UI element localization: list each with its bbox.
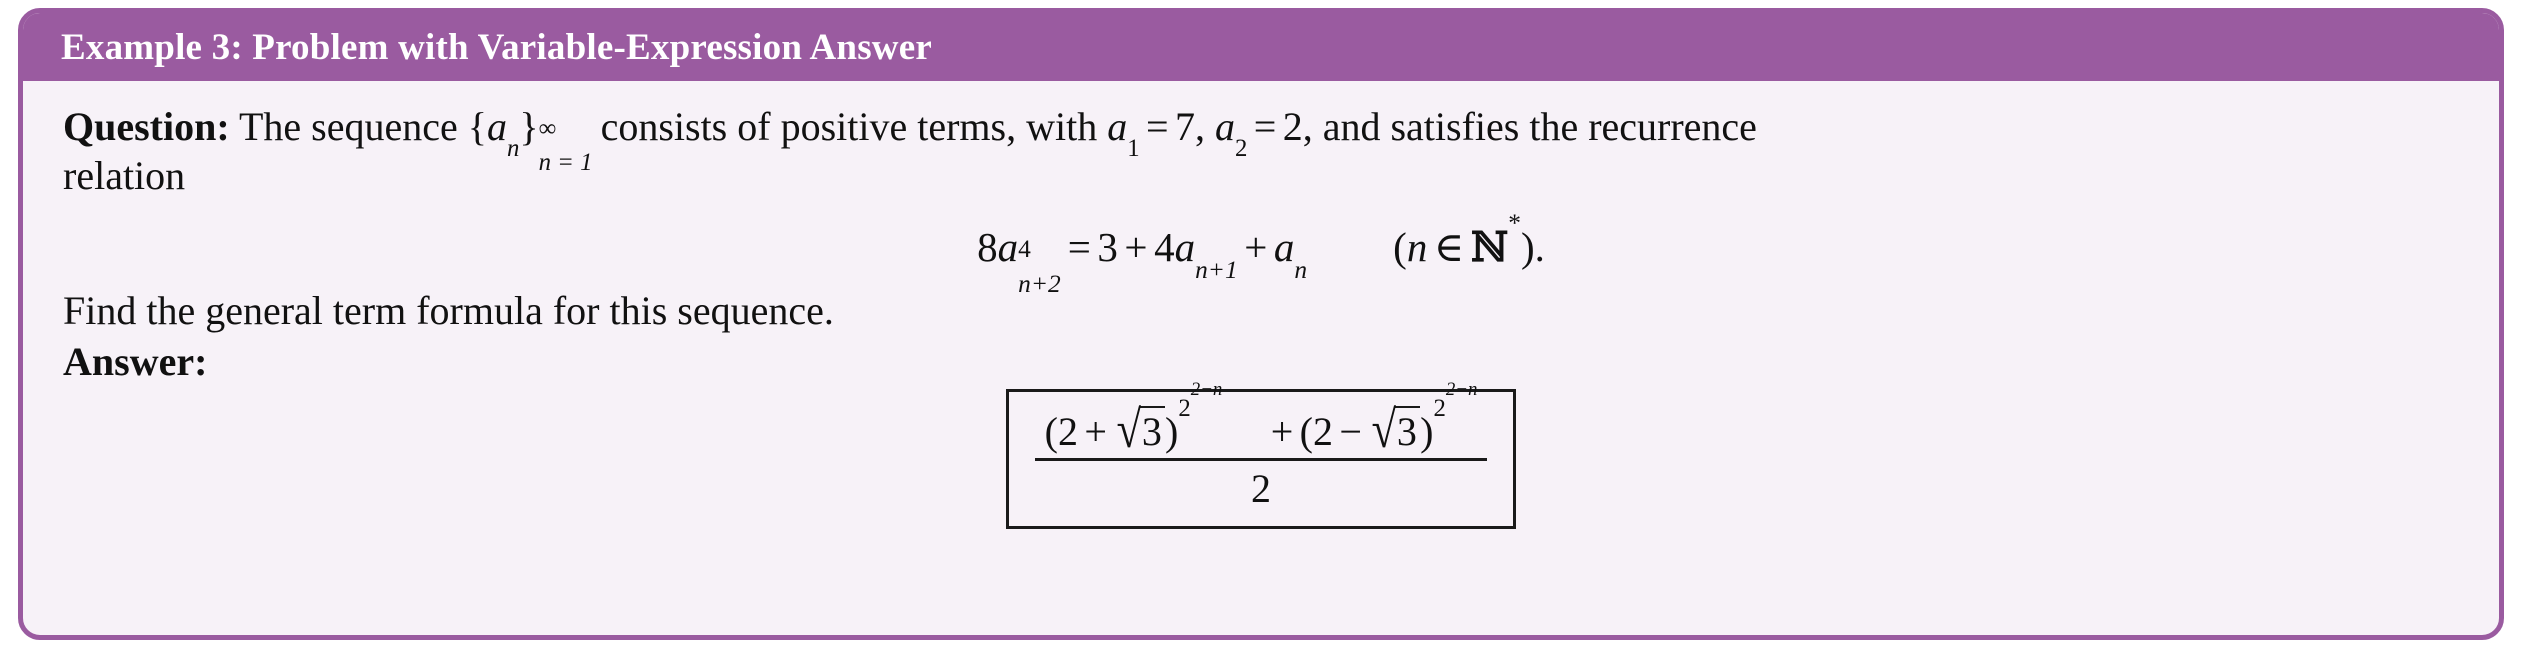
lhs-subscript: n+2 [1018,270,1061,299]
question-label: Question: [63,104,230,149]
rhs-subscript: n+1 [1195,256,1238,284]
term1-exponent: 22−n [1178,395,1222,422]
answer-box: (2+√3)22−n+(2−√3)22−n 2 [1006,389,1517,529]
condition-element-of: ∈ [1427,224,1470,270]
lhs-base: a [998,224,1019,270]
recurrence-equation: 8a4n+2=3+4an+1+an(n∈ℕ*). [63,223,2459,271]
term1-operator: + [1078,409,1113,454]
term2-operator: − [1333,409,1368,454]
find-instruction: Find the general term formula for this s… [63,287,2459,334]
term1-paren-open: ( [1045,409,1058,454]
rhs-plus-1: + [1118,224,1154,270]
equation-equals: = [1061,224,1097,270]
term1-sqrt: √3 [1113,404,1165,456]
lhs-superscript: 4 [1018,235,1031,264]
lhs-coefficient: 8 [977,224,998,270]
rhs-last-base: a [1274,224,1295,270]
question-text-part3: , and satisfies the recurrence [1303,104,1757,149]
term1-operand: 2 [1058,409,1078,454]
sequence-upper-limit: ∞ [539,114,557,143]
condition-paren-open: ( [1393,224,1407,270]
term1-paren-close: ) [1165,409,1178,454]
a2-equals: = [1247,104,1282,149]
answer-box-wrapper: (2+√3)22−n+(2−√3)22−n 2 [63,389,2459,529]
example-card: Example 3: Problem with Variable-Express… [18,8,2504,640]
sequence-subscript: n [507,135,519,162]
a1-value: 7 [1175,104,1195,149]
brace-close: } [519,104,538,149]
term2-exponent: 22−n [1433,395,1477,422]
condition-variable: n [1407,224,1428,270]
condition-natural-set: ℕ [1471,223,1508,271]
a2-subscript: 2 [1235,135,1247,162]
answer-fraction: (2+√3)22−n+(2−√3)22−n 2 [1035,404,1488,512]
answer-denominator: 2 [1035,461,1488,512]
rhs-base: a [1175,224,1196,270]
radical-icon: √ [1116,399,1141,460]
condition-star: * [1508,209,1521,237]
answer-label: Answer: [63,338,2459,385]
comma-after-a1: , [1195,104,1205,149]
term2-sqrt: √3 [1368,404,1420,456]
a2-value: 2 [1283,104,1303,149]
term2-radicand: 3 [1394,406,1420,455]
term1-radicand: 3 [1139,406,1165,455]
sequence-base: a [487,104,507,149]
term2-operand: 2 [1313,409,1333,454]
term2-paren-open: ( [1300,409,1313,454]
rhs-coefficient: 4 [1154,224,1175,270]
sequence-lower-limit: n = 1 [539,148,593,177]
condition-paren-close: ) [1521,224,1535,270]
question-line-1: Question: The sequence {an}∞n = 1 consis… [63,103,2459,150]
question-line-2: relation [63,152,2459,199]
a1-equals: = [1140,104,1175,149]
card-body: Question: The sequence {an}∞n = 1 consis… [23,81,2499,529]
numerator-joiner: + [1264,409,1299,454]
rhs-constant: 3 [1097,224,1118,270]
answer-numerator: (2+√3)22−n+(2−√3)22−n [1035,404,1488,461]
rhs-plus-2: + [1238,224,1274,270]
a1-base: a [1107,104,1127,149]
brace-open: { [468,104,487,149]
term1-exponent-exponent: 2−n [1191,379,1223,400]
term2-paren-close: ) [1420,409,1433,454]
question-text-part2: consists of positive terms, with [601,104,1098,149]
rhs-last-subscript: n [1294,256,1307,284]
a2-base: a [1215,104,1235,149]
a2-term: a2=2 [1215,104,1303,149]
term2-exponent-exponent: 2−n [1446,379,1478,400]
screenshot-root: Example 3: Problem with Variable-Express… [0,0,2522,656]
a1-subscript: 1 [1127,135,1139,162]
a1-term: a1=7 [1107,104,1195,149]
card-header-title: Example 3: Problem with Variable-Express… [61,26,932,69]
sequence-notation: {an}∞n = 1 [468,104,549,149]
equation-period: . [1535,224,1545,270]
radical-icon: √ [1372,399,1397,460]
card-header: Example 3: Problem with Variable-Express… [23,13,2499,81]
term2-exponent-base: 2 [1433,395,1445,422]
question-text-part1: The sequence [239,104,458,149]
term1-exponent-base: 2 [1178,395,1190,422]
